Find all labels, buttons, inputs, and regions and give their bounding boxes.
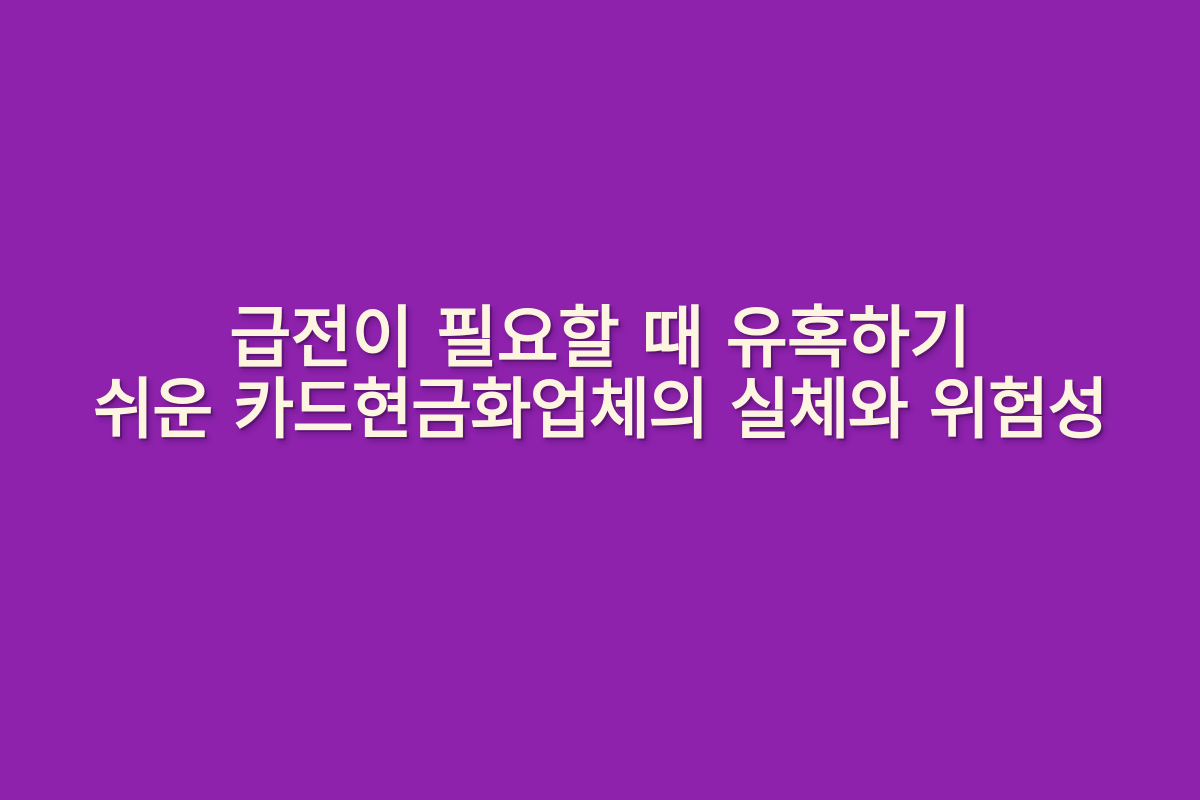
title-block: 급전이 필요할 때 유혹하기 쉬운 카드현금화업체의 실체와 위험성 [0,302,1200,446]
title-line-2: 쉬운 카드현금화업체의 실체와 위험성 [14,374,1186,446]
title-line-1: 급전이 필요할 때 유혹하기 [14,302,1186,374]
title-card: 급전이 필요할 때 유혹하기 쉬운 카드현금화업체의 실체와 위험성 [0,0,1200,800]
